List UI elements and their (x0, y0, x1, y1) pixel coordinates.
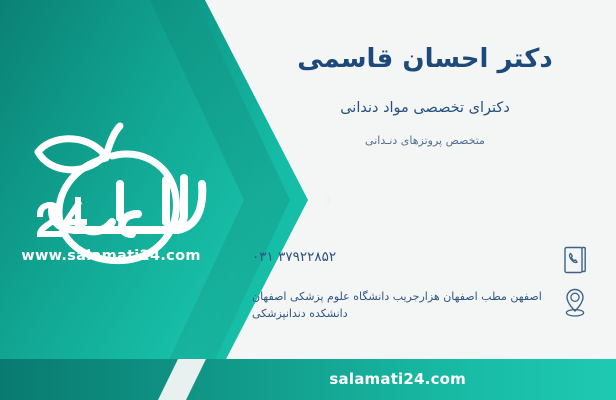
footer-website[interactable]: salamati24.com (329, 370, 466, 388)
specialty-line: متخصص پروتزهای دنـدانی (260, 134, 590, 147)
map-pin-icon (552, 284, 598, 320)
logo-website[interactable]: www.salamati24.com (16, 248, 206, 264)
phone-book-icon (552, 243, 598, 275)
contact-block: ۳۷۹۲۲۸۵۲ ۰۳۱ اصفهن مطب اصفهان هزارجریب د… (248, 243, 598, 331)
address-line-1: اصفهن مطب اصفهان هزارجریب دانشگاه علوم پ… (252, 288, 552, 305)
page-title: دکتر احسان قاسمی (260, 44, 590, 74)
footer-bar: salamati24.com (0, 359, 616, 400)
degree-line: دکترای تخصصی مواد دندانی (260, 100, 590, 116)
business-card: www.salamati24.com دکتر احسان قاسمی دکتر… (0, 0, 616, 400)
contact-row-address[interactable]: اصفهن مطب اصفهان هزارجریب دانشگاه علوم پ… (248, 284, 598, 322)
address-line-2: دانشکده دندانپزشکی (252, 305, 552, 322)
address-text[interactable]: اصفهن مطب اصفهان هزارجریب دانشگاه علوم پ… (248, 284, 552, 322)
phone-number[interactable]: ۳۷۹۲۲۸۵۲ ۰۳۱ (248, 243, 552, 267)
contact-row-phone[interactable]: ۳۷۹۲۲۸۵۲ ۰۳۱ (248, 243, 598, 275)
